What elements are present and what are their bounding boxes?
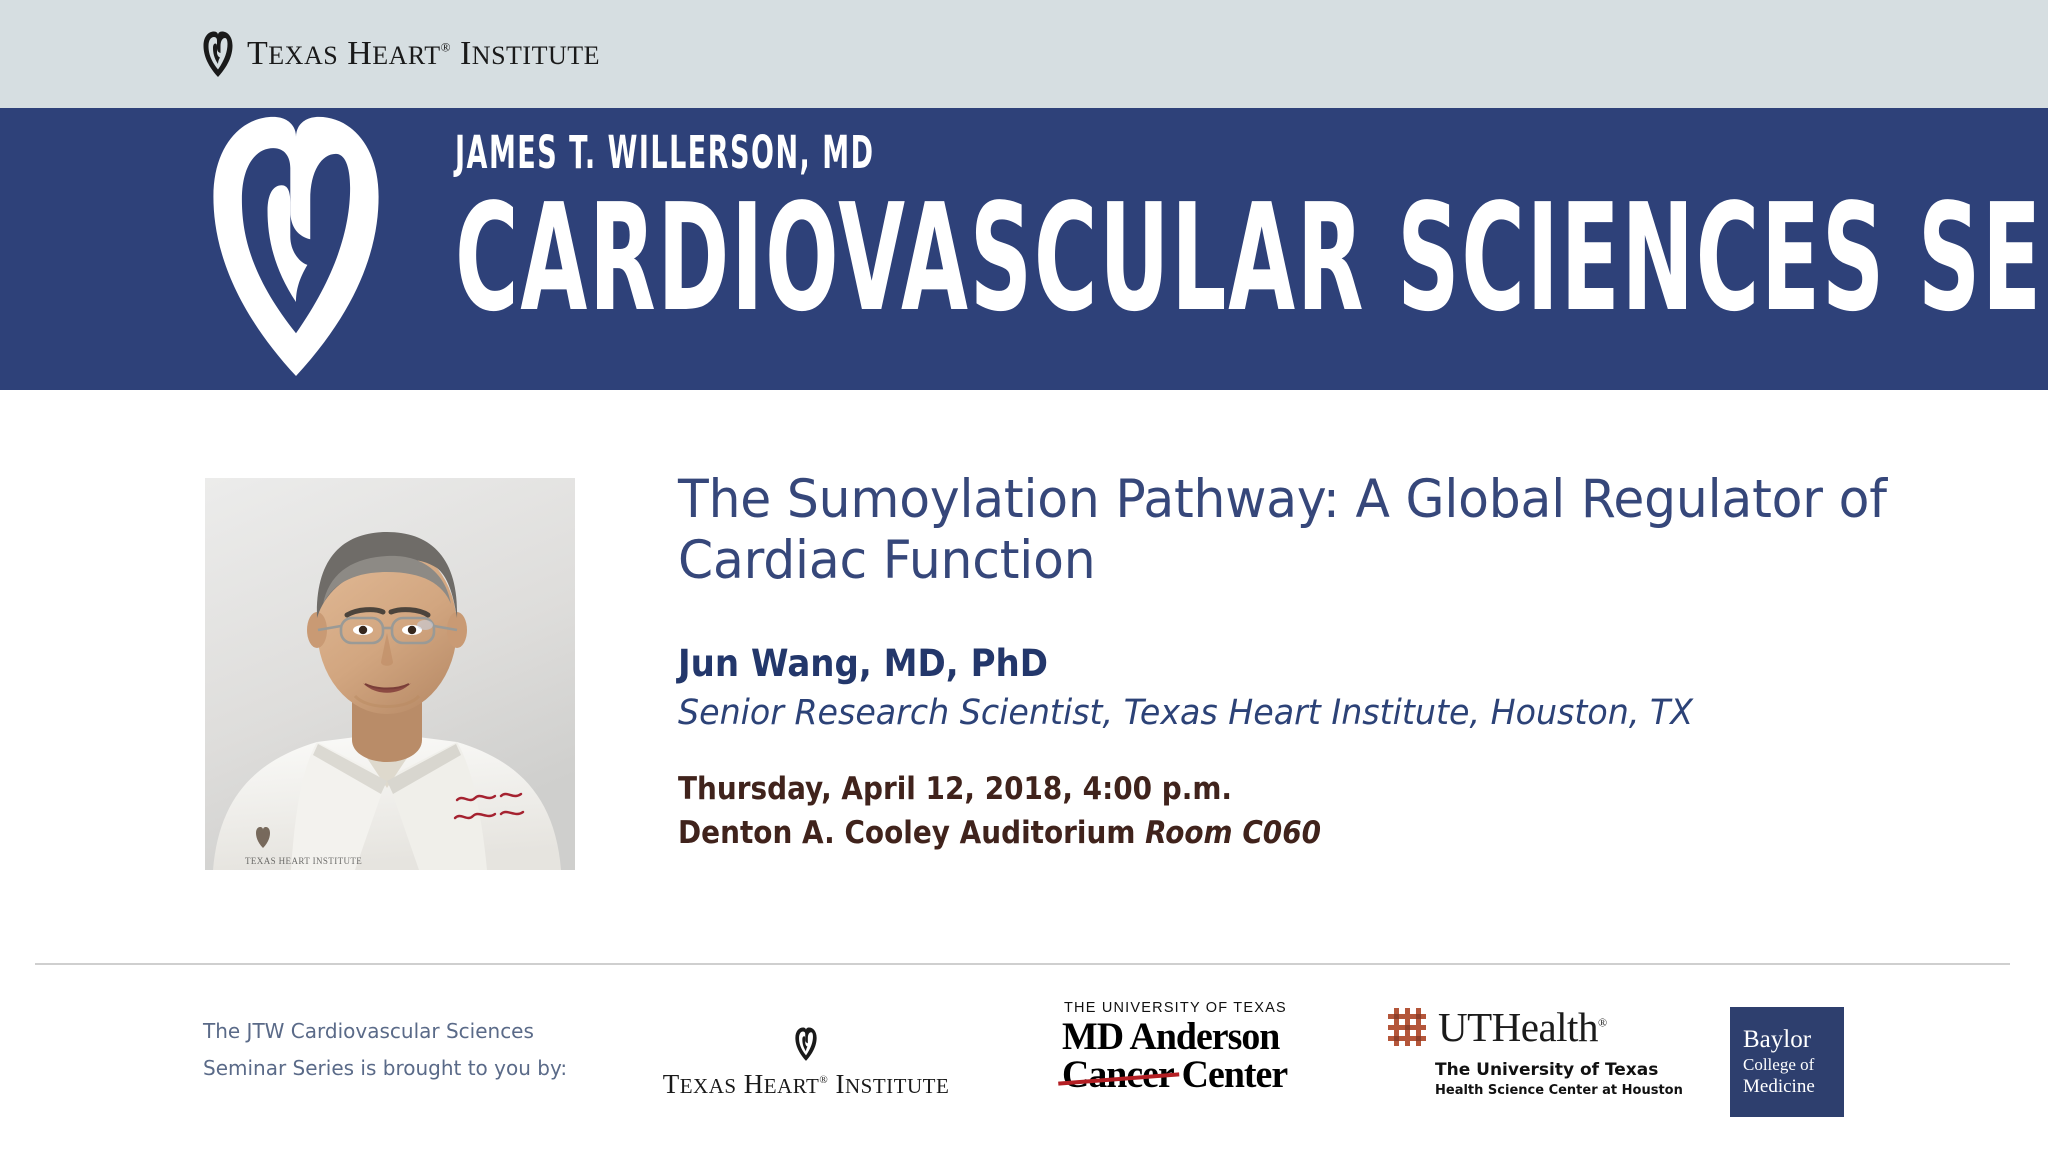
thi-wordmark: TEXAS HEART® INSTITUTE	[247, 35, 600, 73]
main-content: TEXAS HEART INSTITUTE The Sumoylation Pa…	[0, 390, 2048, 963]
thi-word-eart: EART	[372, 41, 440, 70]
registered-mark: ®	[819, 1074, 828, 1086]
sponsor-logo-md-anderson[interactable]: THE UNIVERSITY OF TEXAS MD Anderson Canc…	[1062, 1000, 1292, 1105]
mda-line-2: Cancer Center	[1062, 1056, 1287, 1094]
speaker-portrait: TEXAS HEART INSTITUTE	[205, 478, 575, 870]
talk-title: The Sumoylation Pathway: A Global Regula…	[678, 470, 1894, 592]
footer-divider	[35, 963, 2010, 965]
registered-mark: ®	[441, 40, 451, 55]
thi-word-h: H	[737, 1069, 764, 1099]
uthealth-wordmark: UTHealth®	[1438, 1003, 1607, 1051]
seminar-banner: JAMES T. WILLERSON, MD CARDIOVASCULAR SC…	[0, 108, 2048, 390]
thi-heart-icon	[203, 31, 233, 77]
thi-word-exas: EXAS	[680, 1074, 737, 1098]
thi-word-i: I	[451, 35, 472, 72]
thi-word-exas: EXAS	[268, 41, 338, 70]
svg-text:TEXAS HEART INSTITUTE: TEXAS HEART INSTITUTE	[245, 856, 362, 866]
thi-heart-icon	[795, 1027, 817, 1061]
top-header-bar: TEXAS HEART® INSTITUTE	[0, 0, 2048, 108]
banner-text-block: JAMES T. WILLERSON, MD CARDIOVASCULAR SC…	[455, 128, 1955, 335]
thi-word-t: T	[663, 1069, 680, 1099]
thi-heart-icon	[200, 114, 392, 376]
baylor-line-1: Baylor	[1743, 1027, 1844, 1053]
thi-word-i: I	[828, 1069, 845, 1099]
speaker-name: Jun Wang, MD, PhD	[678, 642, 1856, 685]
mda-center-word: Center	[1173, 1053, 1287, 1096]
sponsor-footer: The JTW Cardiovascular Sciences Seminar …	[0, 975, 2048, 1152]
sponsor-logo-uthealth[interactable]: UTHealth® The University of Texas Health…	[1385, 1003, 1635, 1103]
registered-mark: ®	[1598, 1015, 1607, 1029]
thi-wordmark: TEXAS HEART® INSTITUTE	[663, 1069, 950, 1100]
banner-series-title: CARDIOVASCULAR SCIENCES SEMINAR	[455, 182, 1333, 336]
uthealth-subtitle-2: Health Science Center at Houston	[1435, 1083, 1635, 1098]
event-venue: Denton A. Cooley Auditorium	[678, 815, 1135, 851]
mda-university-line: THE UNIVERSITY OF TEXAS	[1064, 1000, 1292, 1016]
footer-credit-line-2: Seminar Series is brought to you by:	[203, 1050, 567, 1087]
thi-word-t: T	[247, 35, 268, 72]
uthealth-subtitle-1: The University of Texas	[1435, 1060, 1635, 1080]
event-room: Room C060	[1135, 815, 1321, 851]
texas-heart-institute-logo: TEXAS HEART® INSTITUTE	[203, 31, 600, 77]
event-location: Denton A. Cooley Auditorium Room C060	[678, 815, 1830, 851]
baylor-line-2: College of	[1743, 1055, 1844, 1075]
thi-word-h: H	[338, 35, 372, 72]
seminar-details: The Sumoylation Pathway: A Global Regula…	[678, 470, 1958, 851]
footer-credit-text: The JTW Cardiovascular Sciences Seminar …	[203, 1013, 567, 1087]
sponsor-logo-texas-heart-institute[interactable]: TEXAS HEART® INSTITUTE	[672, 1000, 940, 1100]
baylor-line-3: Medicine	[1743, 1076, 1844, 1097]
sponsor-logo-baylor-college-of-medicine[interactable]: Baylor College of Medicine	[1730, 1007, 1844, 1117]
event-datetime: Thursday, April 12, 2018, 4:00 p.m.	[678, 771, 1830, 807]
speaker-affiliation: Senior Research Scientist, Texas Heart I…	[678, 693, 1894, 733]
thi-word-nstitute: NSTITUTE	[845, 1074, 949, 1098]
footer-credit-line-1: The JTW Cardiovascular Sciences	[203, 1013, 567, 1050]
thi-word-nstitute: NSTITUTE	[472, 41, 600, 70]
mda-line-1: MD Anderson	[1062, 1018, 1285, 1056]
thi-word-eart: EART	[764, 1074, 820, 1098]
banner-honoree-name: JAMES T. WILLERSON, MD	[455, 128, 1355, 178]
uthealth-weave-icon	[1385, 1005, 1429, 1049]
